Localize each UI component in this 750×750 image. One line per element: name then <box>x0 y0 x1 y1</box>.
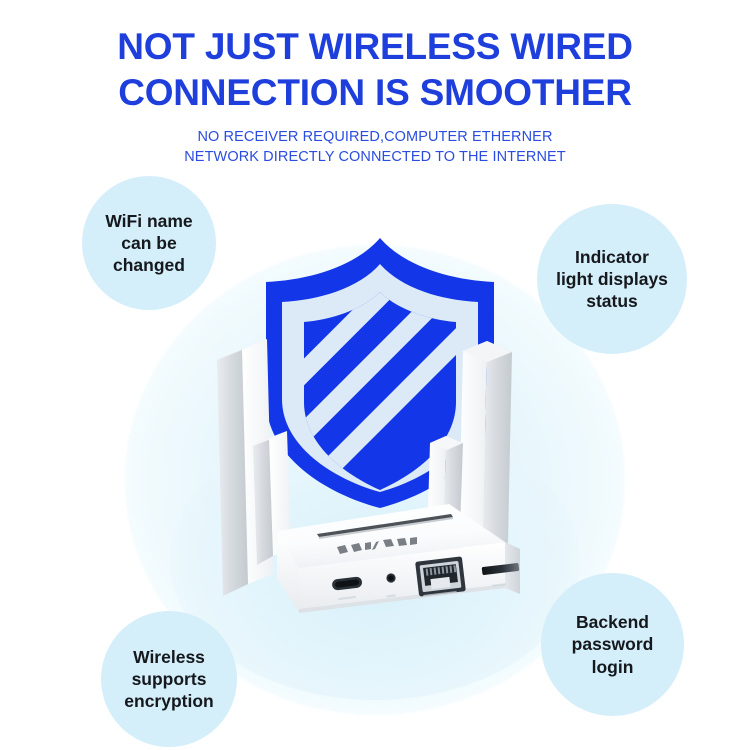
callout-backend-login-text: Backend password login <box>566 611 660 677</box>
callout-wifi-name-line-1: WiFi name <box>105 210 192 232</box>
callout-wireless-encryption-text: Wireless supports encryption <box>118 646 219 712</box>
subtitle-line-1: NO RECEIVER REQUIRED,COMPUTER ETHERNER <box>0 127 750 147</box>
reset-button <box>386 573 395 582</box>
callout-wifi-name-line-2: can be <box>105 232 192 254</box>
callout-wireless-encryption-line-2: supports <box>124 668 213 690</box>
ethernet-port <box>415 556 466 596</box>
page-subtitle: NO RECEIVER REQUIRED,COMPUTER ETHERNER N… <box>0 127 750 167</box>
callout-backend-login-line-2: password <box>572 633 654 655</box>
callout-wireless-encryption-line-1: Wireless <box>124 646 213 668</box>
callout-wifi-name-line-3: changed <box>105 254 192 276</box>
headline-line-1: NOT JUST WIRELESS WIRED <box>0 24 750 70</box>
callout-indicator-light-line-2: light displays <box>556 268 668 290</box>
callout-indicator-light[interactable]: Indicator light displays status <box>537 204 687 354</box>
callout-wifi-name-text: WiFi name can be changed <box>99 210 198 276</box>
product-infographic: NOT JUST WIRELESS WIRED CONNECTION IS SM… <box>0 0 750 750</box>
headline-line-2: CONNECTION IS SMOOTHER <box>0 70 750 116</box>
page-title: NOT JUST WIRELESS WIRED CONNECTION IS SM… <box>0 24 750 116</box>
callout-backend-login[interactable]: Backend password login <box>541 573 684 716</box>
callout-indicator-light-line-1: Indicator <box>556 246 668 268</box>
callout-wireless-encryption[interactable]: Wireless supports encryption <box>101 611 237 747</box>
callout-backend-login-line-1: Backend <box>572 611 654 633</box>
subtitle-line-2: NETWORK DIRECTLY CONNECTED TO THE INTERN… <box>0 147 750 167</box>
wifi-router <box>195 316 561 616</box>
callout-wifi-name[interactable]: WiFi name can be changed <box>82 176 216 310</box>
callout-wireless-encryption-line-3: encryption <box>124 690 213 712</box>
callout-backend-login-line-3: login <box>572 656 654 678</box>
callout-indicator-light-line-3: status <box>556 290 668 312</box>
callout-indicator-light-text: Indicator light displays status <box>550 246 674 312</box>
